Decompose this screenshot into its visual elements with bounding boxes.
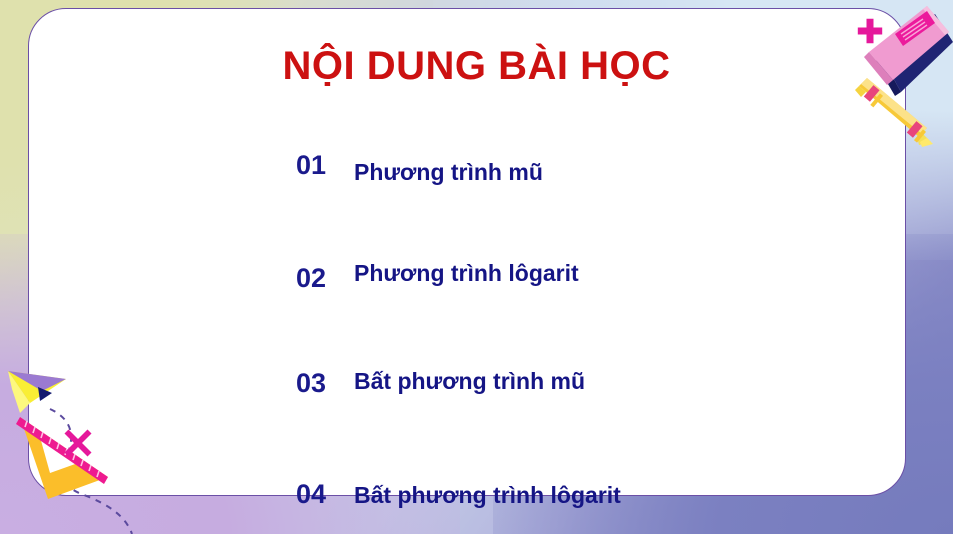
list-item-label: Phương trình lôgarit <box>354 260 579 287</box>
list-item-number: 03 <box>296 368 354 399</box>
list-item-label: Bất phương trình lôgarit <box>354 482 621 509</box>
list-item[interactable]: 01 Phương trình mũ <box>296 140 816 249</box>
list-item[interactable]: 03 Bất phương trình mũ <box>296 356 816 461</box>
page-title: NỘI DUNG BÀI HỌC <box>0 44 953 89</box>
list-item[interactable]: 02 Phương trình lôgarit <box>296 249 816 356</box>
x-mark-icon <box>63 428 93 458</box>
list-item-label: Phương trình mũ <box>354 159 543 186</box>
slide-root: NỘI DUNG BÀI HỌC 01 Phương trình mũ 02 P… <box>0 0 953 534</box>
list-item[interactable]: 04 Bất phương trình lôgarit <box>296 461 816 534</box>
plus-sign-icon <box>857 18 883 44</box>
contents-list: 01 Phương trình mũ 02 Phương trình lôgar… <box>296 140 816 534</box>
list-item-number: 01 <box>296 150 354 181</box>
list-item-number: 04 <box>296 479 354 510</box>
list-item-label: Bất phương trình mũ <box>354 368 585 395</box>
list-item-number: 02 <box>296 263 354 294</box>
